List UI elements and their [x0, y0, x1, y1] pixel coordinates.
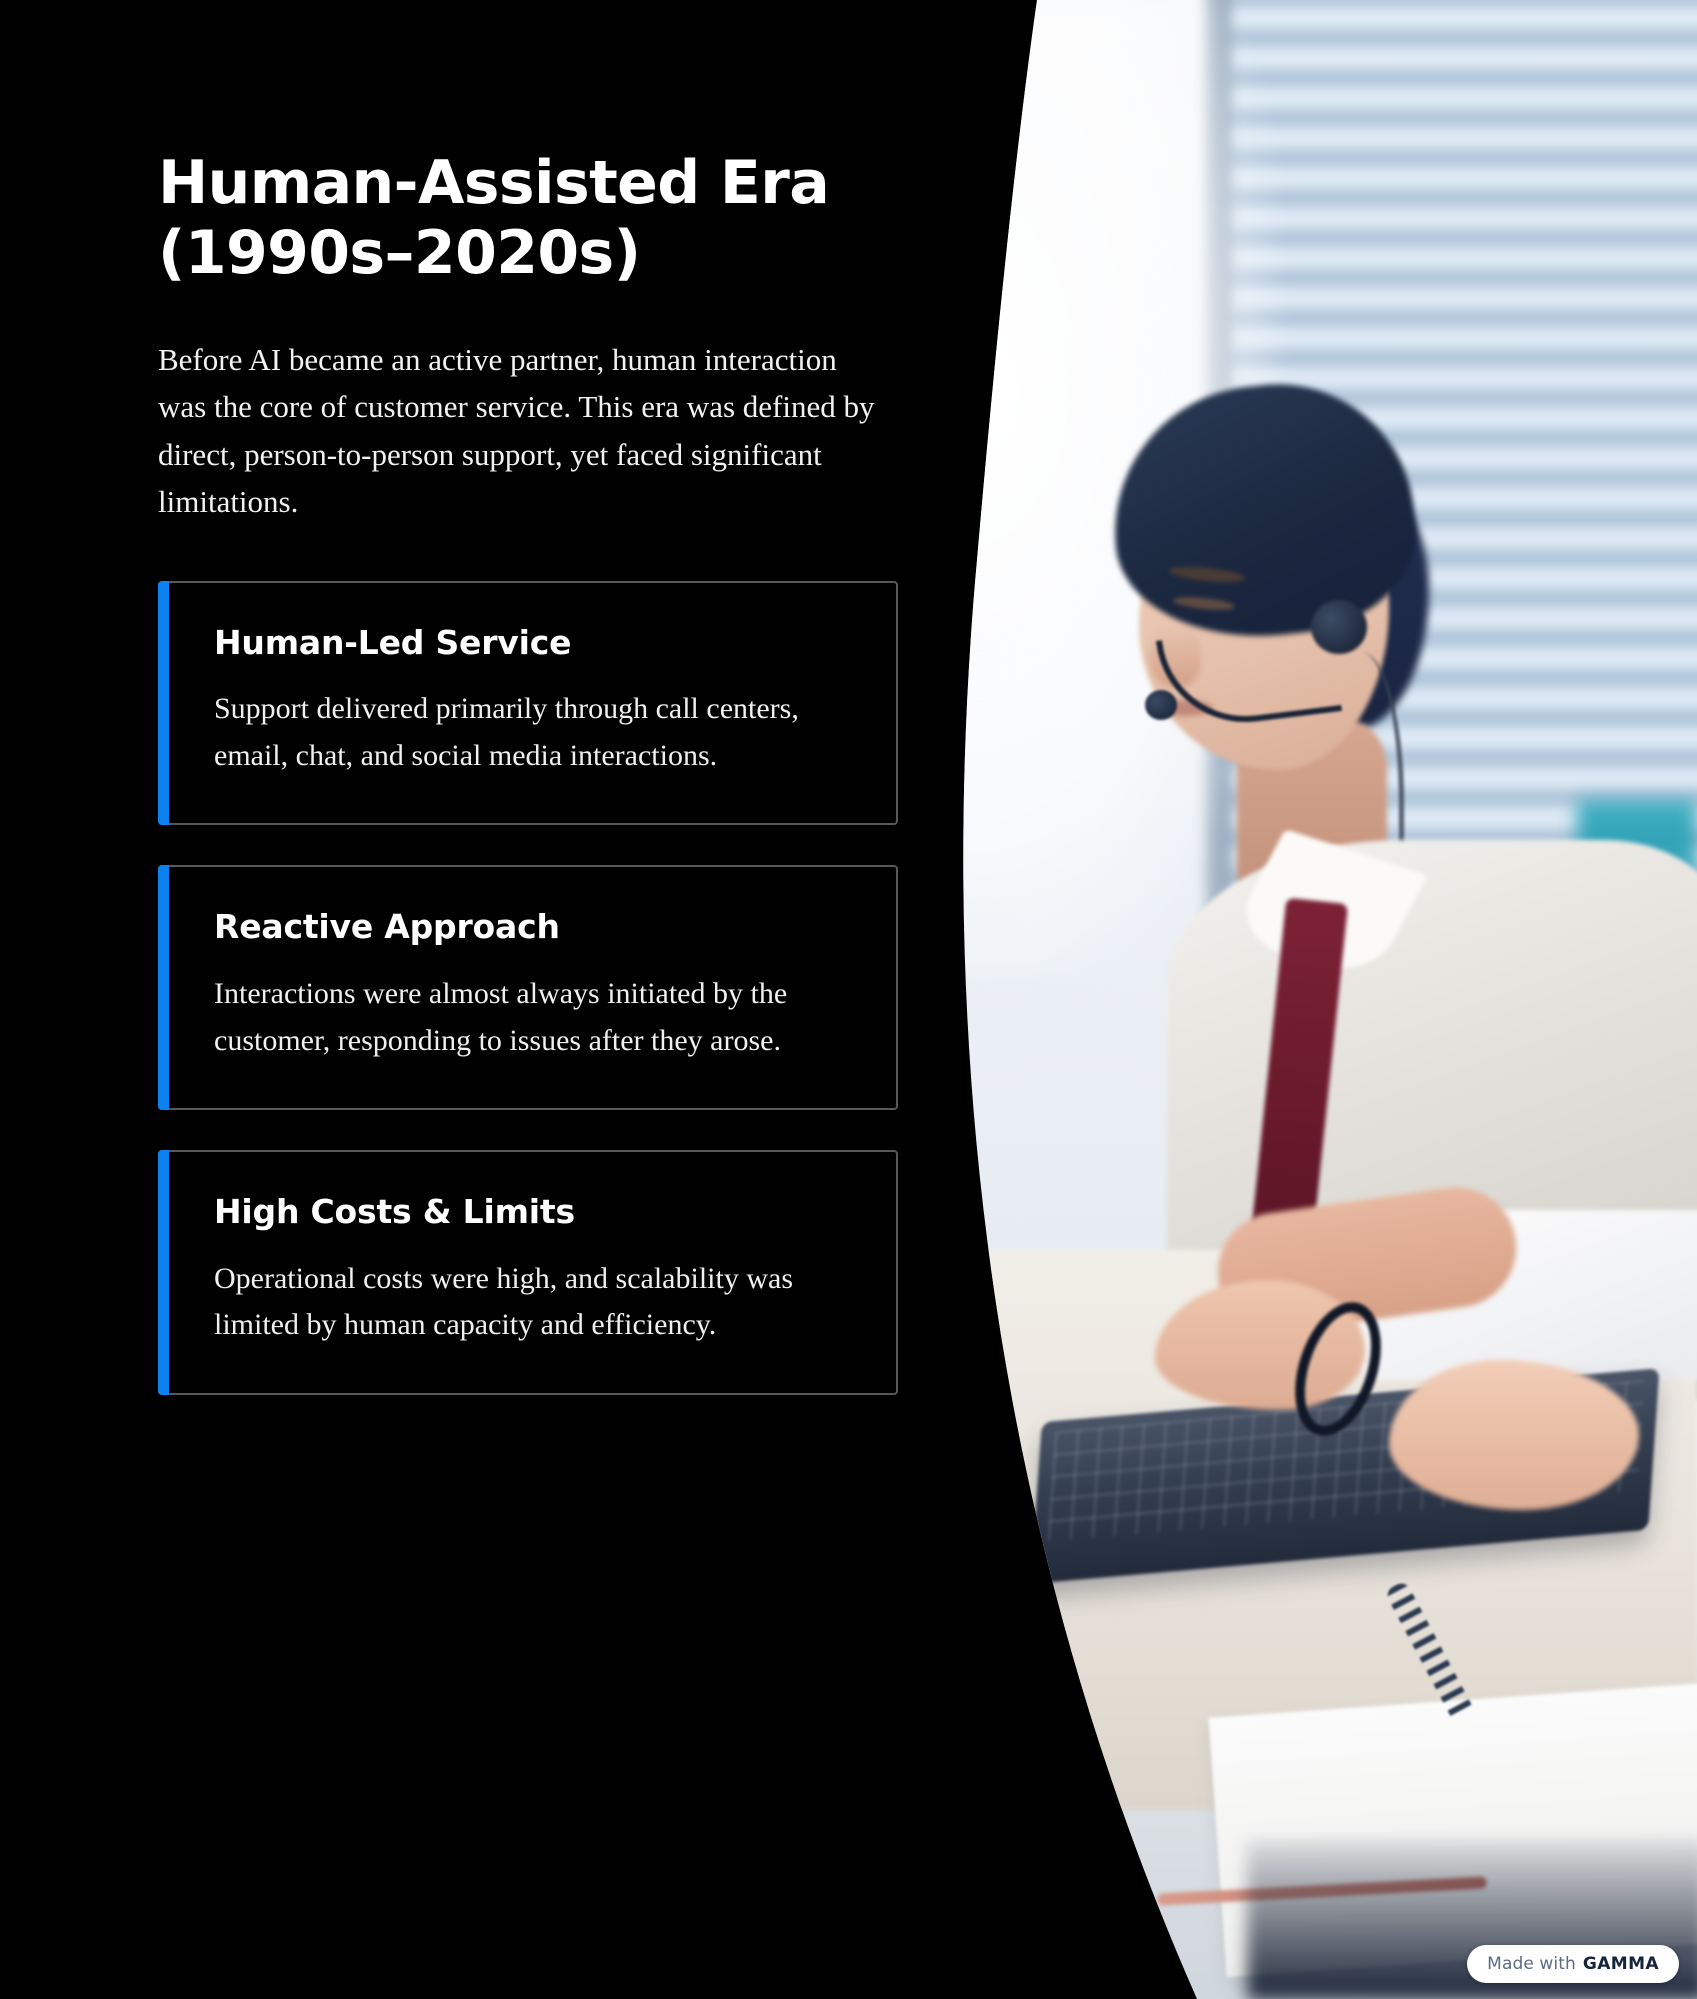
card-title: Reactive Approach — [214, 907, 852, 947]
card-body: Support delivered primarily through call… — [214, 662, 852, 779]
card-accent-bar — [158, 581, 169, 826]
slide-root: Human-Assisted Era (1990s–2020s) Before … — [0, 0, 1697, 1999]
card-title: Human-Led Service — [214, 623, 852, 663]
hero-photo-panel — [917, 0, 1697, 1999]
page-title: Human-Assisted Era (1990s–2020s) — [158, 0, 878, 288]
headset-microphone-icon — [1145, 690, 1177, 720]
badge-brand-label: GAMMA — [1583, 1954, 1659, 1974]
content-column: Human-Assisted Era (1990s–2020s) Before … — [158, 0, 918, 1395]
card-body: Interactions were almost always initiate… — [214, 947, 852, 1064]
feature-card-human-led-service[interactable]: Human-Led Service Support delivered prim… — [158, 581, 898, 826]
made-with-gamma-badge[interactable]: Made with GAMMA — [1467, 1945, 1679, 1983]
feature-card-high-costs-limits[interactable]: High Costs & Limits Operational costs we… — [158, 1150, 898, 1395]
card-title: High Costs & Limits — [214, 1192, 852, 1232]
feature-card-reactive-approach[interactable]: Reactive Approach Interactions were almo… — [158, 865, 898, 1110]
badge-made-with-label: Made with — [1487, 1954, 1576, 1974]
card-body: Operational costs were high, and scalabi… — [214, 1232, 852, 1349]
feature-card-list: Human-Led Service Support delivered prim… — [158, 581, 918, 1395]
card-accent-bar — [158, 1150, 169, 1395]
intro-paragraph: Before AI became an active partner, huma… — [158, 288, 888, 524]
call-center-photo — [917, 0, 1697, 1999]
card-accent-bar — [158, 865, 169, 1110]
